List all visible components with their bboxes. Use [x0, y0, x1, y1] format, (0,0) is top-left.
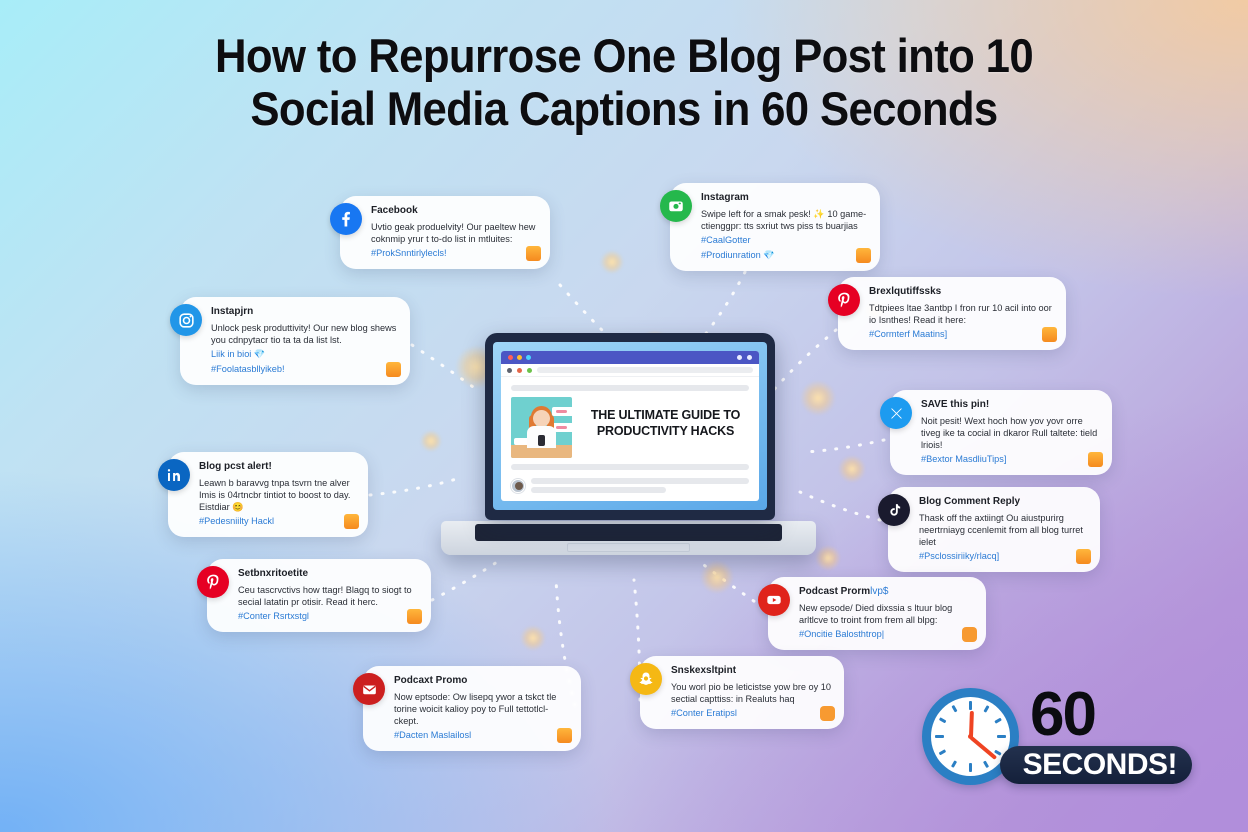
grinning-face-icon — [1042, 327, 1057, 342]
email-icon — [353, 673, 385, 705]
card-caption-text: Uvtio geak produelvity! Our paeltew hew … — [371, 221, 539, 246]
title-line-1: How to Repurrose One Blog Post into 10 — [215, 29, 1033, 82]
avatar — [511, 479, 525, 493]
grinning-face-icon — [526, 246, 541, 261]
grinning-face-icon — [1076, 549, 1091, 564]
speech-bubble-icon — [962, 627, 977, 642]
card-platform-label: Blog pcst alert! — [199, 461, 357, 474]
tiktok-icon — [878, 494, 910, 526]
card-hashtag[interactable]: #ProkSnntirlylecls! — [371, 247, 539, 260]
card-platform-label: Facebook — [371, 205, 539, 218]
laptop-mockup: THE ULTIMATE GUIDE TO PRODUCTIVITY HACKS — [441, 333, 816, 573]
laptop-lid: THE ULTIMATE GUIDE TO PRODUCTIVITY HACKS — [485, 333, 775, 520]
grinning-face-icon — [856, 248, 871, 263]
card-platform-text: Podcast Prorm — [799, 586, 870, 597]
laptop-screen: THE ULTIMATE GUIDE TO PRODUCTIVITY HACKS — [493, 342, 767, 510]
caption-card-snapchat[interactable]: Snskexsltpint You worl pio be leticistse… — [640, 656, 844, 729]
badge-number: 60 — [1030, 684, 1095, 746]
card-hashtag[interactable]: #Foolatasbllyikeb! — [211, 363, 399, 376]
grinning-face-icon — [386, 362, 401, 377]
browser-content: THE ULTIMATE GUIDE TO PRODUCTIVITY HACKS — [501, 377, 759, 501]
caption-card-instagram-top[interactable]: Instagram Swipe left for a smak pesk! ✨ … — [670, 183, 880, 271]
speech-bubble-icon — [820, 706, 835, 721]
window-control-dots[interactable] — [508, 355, 531, 360]
card-hashtag[interactable]: #Psclossiriiky/rlacq] — [919, 550, 1089, 563]
page-title: How to Repurrose One Blog Post into 10 S… — [44, 30, 1205, 135]
content-placeholder-bar — [511, 464, 749, 470]
card-link-in-bio[interactable]: Liik in bioi 💎 — [211, 348, 399, 361]
card-caption-text: Leawn b baravvg tnpa tsvrn tne alver Imi… — [199, 477, 357, 514]
browser-titlebar — [501, 351, 759, 364]
infographic-canvas: How to Repurrose One Blog Post into 10 S… — [0, 0, 1248, 832]
card-caption-text: Ceu tascrvctivs how ttagr! Blagq to siog… — [238, 584, 420, 609]
article-hero: THE ULTIMATE GUIDE TO PRODUCTIVITY HACKS — [511, 397, 749, 458]
caption-card-email[interactable]: Podcaxt Promo Now eptsode: Ow lisepq ywo… — [363, 666, 581, 751]
card-hashtag[interactable]: #Bextor MasdliuTips] — [921, 453, 1101, 466]
card-caption-text: Tdtpiees ltae 3antbp I fron rur 10 acil … — [869, 302, 1055, 327]
caption-card-tiktok[interactable]: Blog Comment Reply Thask off the axtiing… — [888, 487, 1100, 572]
browser-toolbar — [501, 364, 759, 377]
card-platform-label: Blog Comment Reply — [919, 496, 1089, 509]
grinning-face-icon — [1088, 452, 1103, 467]
instagram-icon — [170, 304, 202, 336]
article-thumbnail-image — [511, 397, 572, 458]
card-platform-label: SAVE this pin! — [921, 399, 1101, 412]
snapchat-icon — [630, 663, 662, 695]
laptop-trackpad — [567, 543, 690, 552]
pinterest-icon — [197, 566, 229, 598]
card-platform-label: Brexlqutiffssks — [869, 286, 1055, 299]
card-hashtag[interactable]: #Pedesniilty Hackl — [199, 515, 357, 528]
card-platform-label: Podcaxt Promo — [394, 675, 570, 688]
caption-card-youtube[interactable]: Podcast Prormlvp$ New epsode/ Died dixss… — [768, 577, 986, 650]
card-platform-label: Setbnxritoetite — [238, 568, 420, 581]
laptop-base — [441, 521, 816, 555]
card-hashtag[interactable]: #Conter Rsrtxstgl — [238, 610, 420, 623]
badge-seconds-label: SECONDS! — [1023, 748, 1177, 782]
caption-card-linkedin[interactable]: Blog pcst alert! Leawn b baravvg tnpa ts… — [168, 452, 368, 537]
pinterest-icon — [828, 284, 860, 316]
window-right-dots — [737, 355, 752, 360]
card-platform-label: Snskexsltpint — [671, 665, 833, 678]
badge-seconds-bar: SECONDS! — [1000, 746, 1192, 784]
whatsapp-icon — [660, 190, 692, 222]
card-hashtag[interactable]: #Oncitie Balosthtrop| — [799, 628, 975, 641]
title-line-2: Social Media Captions in 60 Seconds — [44, 83, 1205, 136]
caption-card-facebook[interactable]: Facebook Uvtio geak produelvity! Our pae… — [340, 196, 550, 269]
card-hashtag[interactable]: #Cormterf Maatins] — [869, 328, 1055, 341]
card-platform-label: Instagram — [701, 192, 869, 205]
card-caption-text: You worl pio be leticistse yow bre oy 10… — [671, 681, 833, 706]
card-hashtag-secondary[interactable]: #Prodiunration 💎 — [701, 249, 869, 262]
card-platform-label: Instapjrn — [211, 306, 399, 319]
youtube-icon — [758, 584, 790, 616]
card-caption-text: Now eptsode: Ow lisepq ywor a tskct tle … — [394, 691, 570, 728]
card-caption-text: Noit pesit! Wext hoch how yov yovr orre … — [921, 415, 1101, 452]
card-hashtag[interactable]: #Dacten Maslailosl — [394, 729, 570, 742]
grinning-face-icon — [344, 514, 359, 529]
card-platform-label: Podcast Prormlvp$ — [799, 586, 975, 599]
grinning-face-icon — [557, 728, 572, 743]
article-byline — [511, 478, 749, 493]
browser-window: THE ULTIMATE GUIDE TO PRODUCTIVITY HACKS — [501, 351, 759, 501]
card-caption-text: Swipe left for a smak pesk! ✨ 10 game-ct… — [701, 208, 869, 233]
caption-card-instagram-left[interactable]: Instapjrn Unlock pesk produttivity! Our … — [180, 297, 410, 385]
facebook-icon — [330, 203, 362, 235]
caption-card-x-twitter[interactable]: SAVE this pin! Noit pesit! Wext hoch how… — [890, 390, 1112, 475]
card-caption-text: Thask off the axtiingt Ou aiustpurirg ne… — [919, 512, 1089, 549]
article-title: THE ULTIMATE GUIDE TO PRODUCTIVITY HACKS — [582, 397, 749, 439]
caption-card-pinterest-left[interactable]: Setbnxritoetite Ceu tascrvctivs how ttag… — [207, 559, 431, 632]
grinning-face-icon — [407, 609, 422, 624]
laptop-keyboard — [475, 524, 782, 541]
card-caption-text: New epsode/ Died dixssia s ltuur blog ar… — [799, 602, 975, 627]
card-hashtag[interactable]: #Conter Eratipsl — [671, 707, 833, 720]
linkedin-icon — [158, 459, 190, 491]
card-hashtag[interactable]: #CaalGotter — [701, 234, 869, 247]
x-twitter-icon — [880, 397, 912, 429]
browser-url-bar[interactable] — [537, 367, 753, 373]
sixty-seconds-badge: 60 SECONDS! — [922, 688, 1192, 788]
card-platform-suffix: lvp$ — [870, 586, 888, 597]
caption-card-pinterest-top[interactable]: Brexlqutiffssks Tdtpiees ltae 3antbp I f… — [838, 277, 1066, 350]
content-placeholder-bar — [511, 385, 749, 391]
card-caption-text: Unlock pesk produttivity! Our new blog s… — [211, 322, 399, 347]
